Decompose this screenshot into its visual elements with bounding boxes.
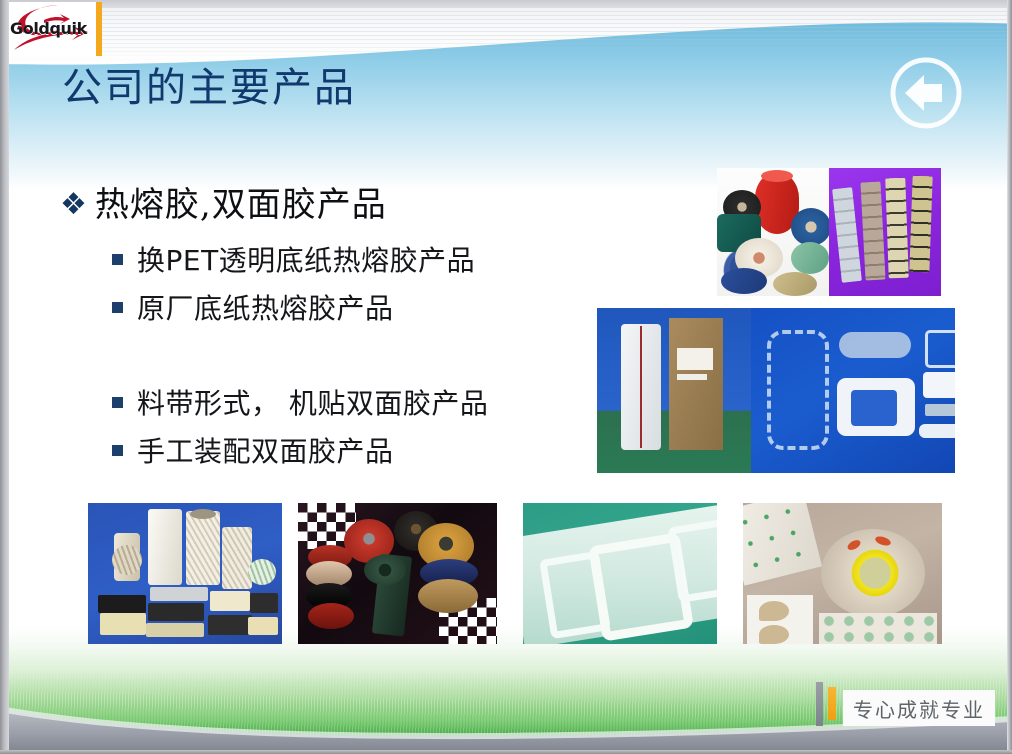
- square-bullet-icon: [112, 302, 123, 313]
- bullet-level2-text-3: 手工装配双面胶产品: [137, 433, 394, 471]
- square-bullet-icon: [112, 254, 123, 265]
- bullet-level2-item-1: 原厂底纸热熔胶产品: [112, 290, 394, 328]
- bullet-level2-text-0: 换PET透明底纸热熔胶产品: [137, 242, 475, 280]
- slide-frame-bottom: [0, 750, 1012, 754]
- footer-tagline-text: 专心成就专业: [853, 694, 985, 723]
- slide-body-content: ❖ 热熔胶,双面胶产品 换PET透明底纸热熔胶产品 原厂底纸热熔胶产品 料带形式…: [0, 0, 1012, 754]
- square-bullet-icon: [112, 445, 123, 456]
- presentation-slide: Goldquik 公司的主要产品: [0, 0, 1012, 754]
- bullet-level1-text: 热熔胶,双面胶产品: [95, 183, 387, 227]
- square-bullet-icon: [112, 397, 123, 408]
- slide-frame-left: [0, 0, 9, 754]
- bullet-level2-item-0: 换PET透明底纸热熔胶产品: [112, 242, 475, 280]
- bullet-level2-text-2: 料带形式， 机贴双面胶产品: [137, 385, 488, 423]
- company-logo: Goldquik: [6, 2, 102, 56]
- back-arrow-icon[interactable]: [888, 55, 964, 131]
- bullet-level1: ❖ 热熔胶,双面胶产品: [60, 183, 387, 227]
- bullet-level2-item-3: 手工装配双面胶产品: [112, 433, 394, 471]
- slide-frame-right: [1007, 0, 1012, 754]
- bullet-level2-text-1: 原厂底纸热熔胶产品: [137, 290, 394, 328]
- bullet-level2-item-2: 料带形式， 机贴双面胶产品: [112, 385, 488, 423]
- diamond-bullet-icon: ❖: [60, 183, 87, 227]
- footer-orange-bar: [828, 687, 836, 720]
- logo-wordmark: Goldquik: [10, 19, 87, 38]
- footer-gray-bar: [816, 682, 823, 726]
- footer-tagline-box: 专心成就专业: [843, 690, 995, 726]
